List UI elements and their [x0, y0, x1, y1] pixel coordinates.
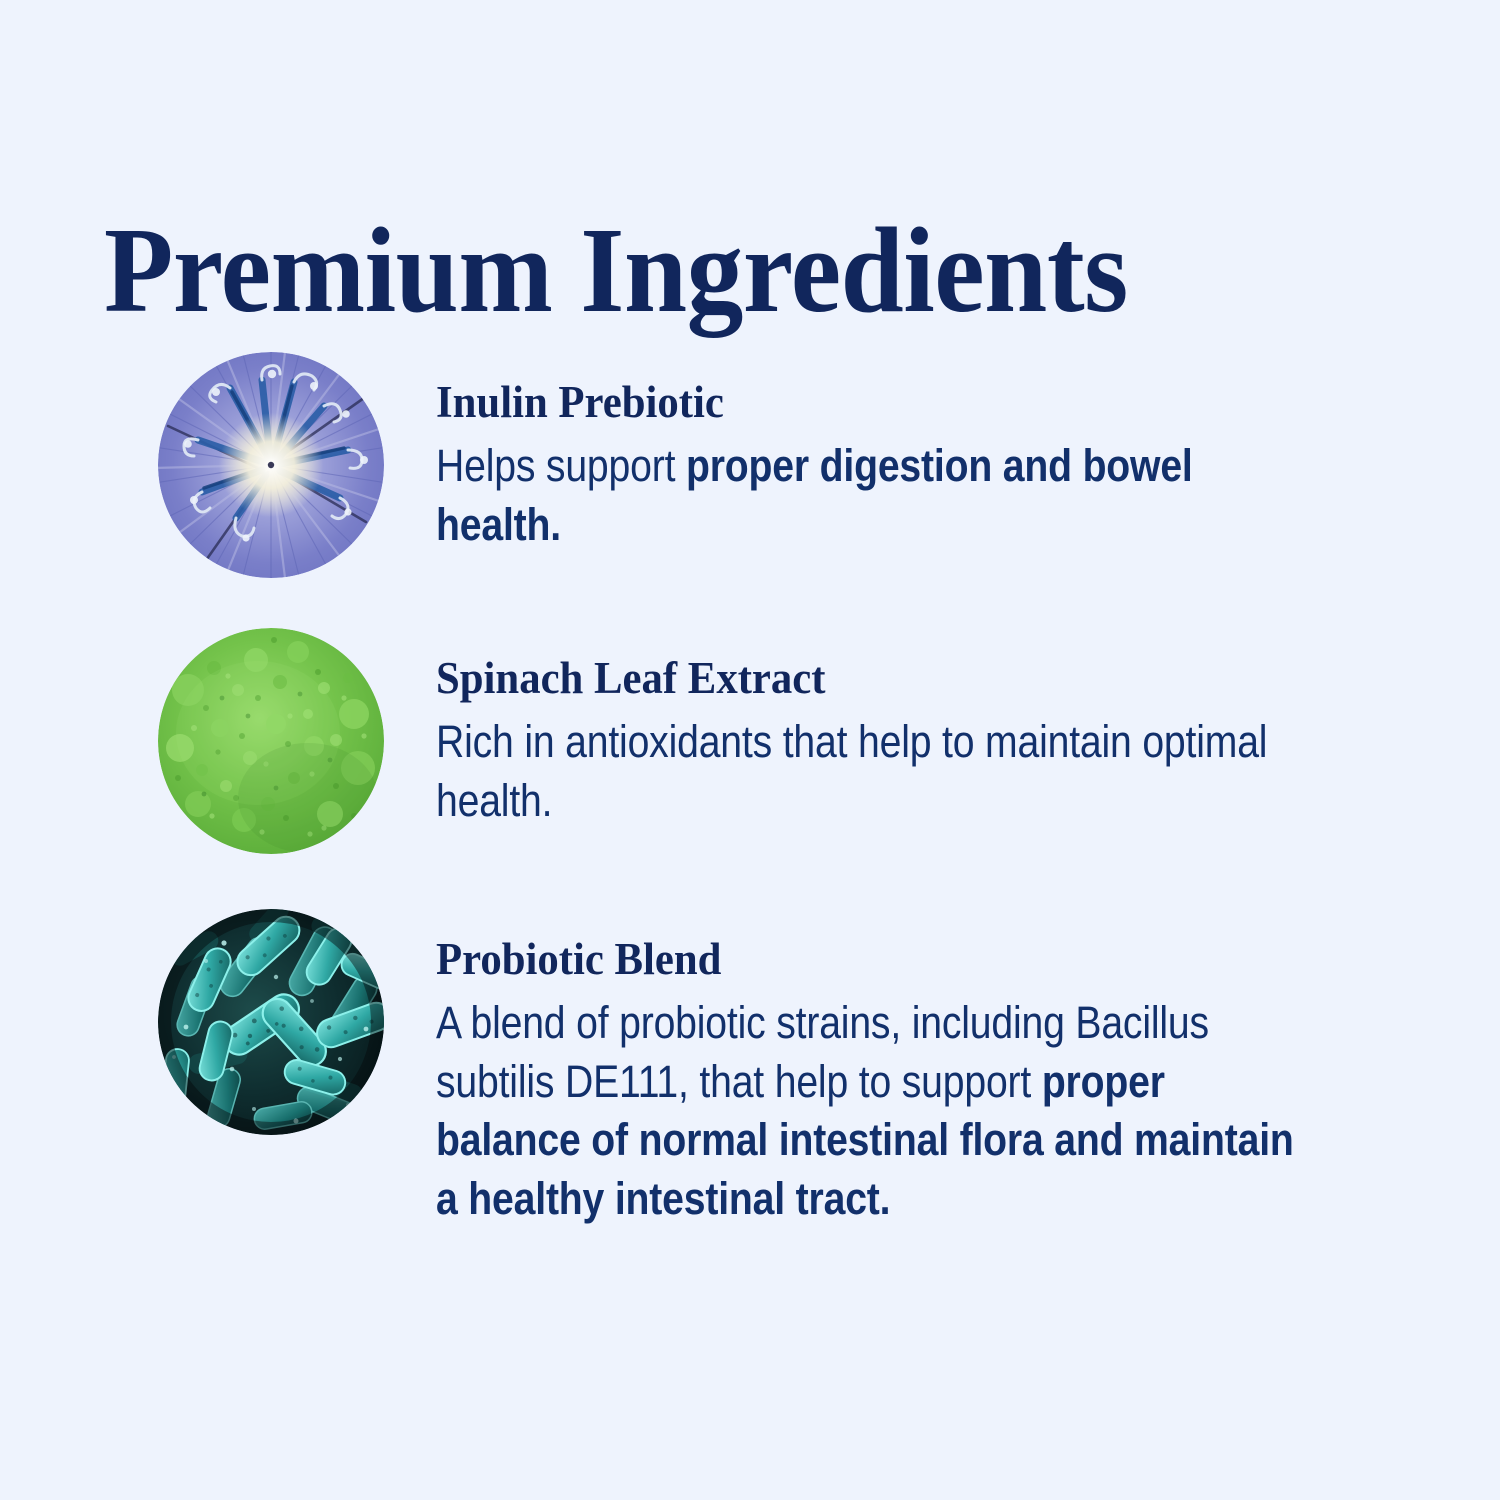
ingredient-item-probiotic: Probiotic Blend A blend of probiotic str… [0, 909, 1500, 1228]
page-title: Premium Ingredients [104, 210, 1128, 332]
ingredient-list: Inulin Prebiotic Helps support proper di… [0, 352, 1500, 1228]
ingredient-text-block: Inulin Prebiotic Helps support proper di… [384, 352, 1296, 554]
desc-regular-text: Rich in antioxidants that help to mainta… [436, 716, 1267, 826]
desc-regular-text: Helps support [436, 440, 686, 491]
ingredient-name: Inulin Prebiotic [436, 380, 1253, 425]
spinach-powder-image [158, 628, 384, 854]
probiotic-bacteria-image [158, 909, 384, 1135]
ingredient-text-block: Spinach Leaf Extract Rich in antioxidant… [384, 628, 1296, 830]
ingredient-item-spinach: Spinach Leaf Extract Rich in antioxidant… [0, 628, 1500, 854]
ingredient-description: Helps support proper digestion and bowel… [436, 437, 1296, 554]
ingredient-name: Probiotic Blend [436, 937, 1253, 982]
ingredient-item-inulin: Inulin Prebiotic Helps support proper di… [0, 352, 1500, 578]
ingredient-text-block: Probiotic Blend A blend of probiotic str… [384, 909, 1296, 1228]
ingredient-description: Rich in antioxidants that help to mainta… [436, 713, 1296, 830]
chicory-flower-image [158, 352, 384, 578]
ingredient-description: A blend of probiotic strains, including … [436, 994, 1296, 1228]
ingredient-name: Spinach Leaf Extract [436, 656, 1253, 701]
premium-ingredients-panel: Premium Ingredients [0, 0, 1500, 1500]
